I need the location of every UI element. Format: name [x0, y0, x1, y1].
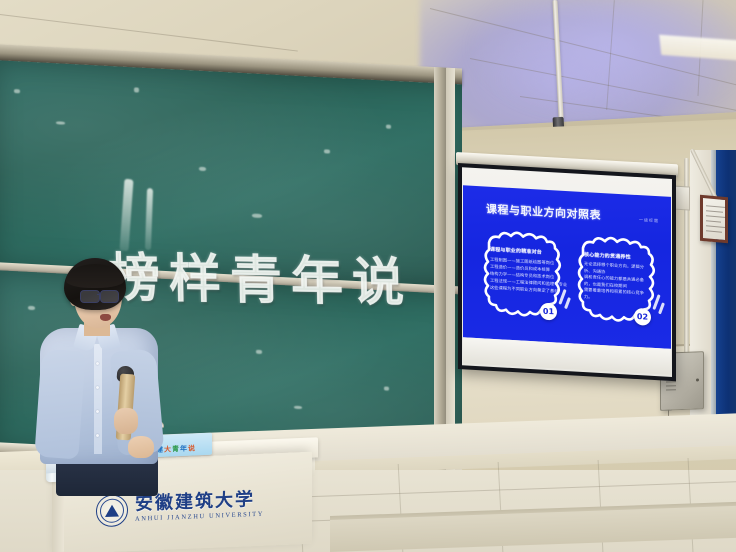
seal-triangle-icon: [105, 504, 119, 517]
cabinet-lock-icon: [696, 378, 699, 381]
speaker-left-arm: [34, 349, 85, 460]
panel-body: 工程制图——施工图纸绘图等岗位 工程造价——造价员和成本核算 结构力学——结构专…: [490, 256, 554, 295]
speaker-hand-holding-mic: [114, 408, 138, 434]
speaker-person: [18, 258, 188, 488]
glasses-right-lens-icon: [100, 290, 119, 303]
glasses-left-lens-icon: [80, 290, 100, 303]
slide-title: 课程与职业方向对照表: [486, 201, 601, 223]
glasses-bridge: [97, 294, 101, 295]
speaker-hand-right: [128, 436, 154, 458]
presentation-slide: 课程与职业方向对照表 一级标题 课程与职业的精准对台 工程制图——施工图纸绘图等…: [463, 185, 671, 349]
slide-panel-02: 核心能力的贯通养性 无论选择哪个职业方向，逻辑分析、沟通协 调和责任心的能力都是…: [575, 232, 657, 329]
panel-number: 02: [634, 308, 651, 326]
blackboard-right-post-inner: [446, 68, 455, 478]
panel-body: 无论选择哪个职业方向，逻辑分析、沟通协 调和责任心的能力都是共通必备的，也是我们…: [584, 261, 648, 304]
shirt-placket: [94, 344, 102, 454]
speaker-mouth: [100, 314, 111, 321]
slide-corner-note: 一级标题: [639, 217, 659, 224]
blue-door[interactable]: [716, 150, 736, 450]
panel-number: 01: [540, 303, 557, 321]
projector-screen: 课程与职业方向对照表 一级标题 课程与职业的精准对台 工程制图——施工图纸绘图等…: [458, 163, 676, 381]
slide-panel-01: 课程与职业的精准对台 工程制图——施工图纸绘图等岗位 工程造价——造价员和成本核…: [481, 226, 563, 323]
university-seal-icon: [96, 494, 128, 527]
lecture-hall-photo: 榜样青年说 课程与职业方向对照表 一级标题 课程与职业的精准对台 工程制图——施…: [0, 0, 736, 552]
wall-framed-notice: [700, 195, 728, 243]
